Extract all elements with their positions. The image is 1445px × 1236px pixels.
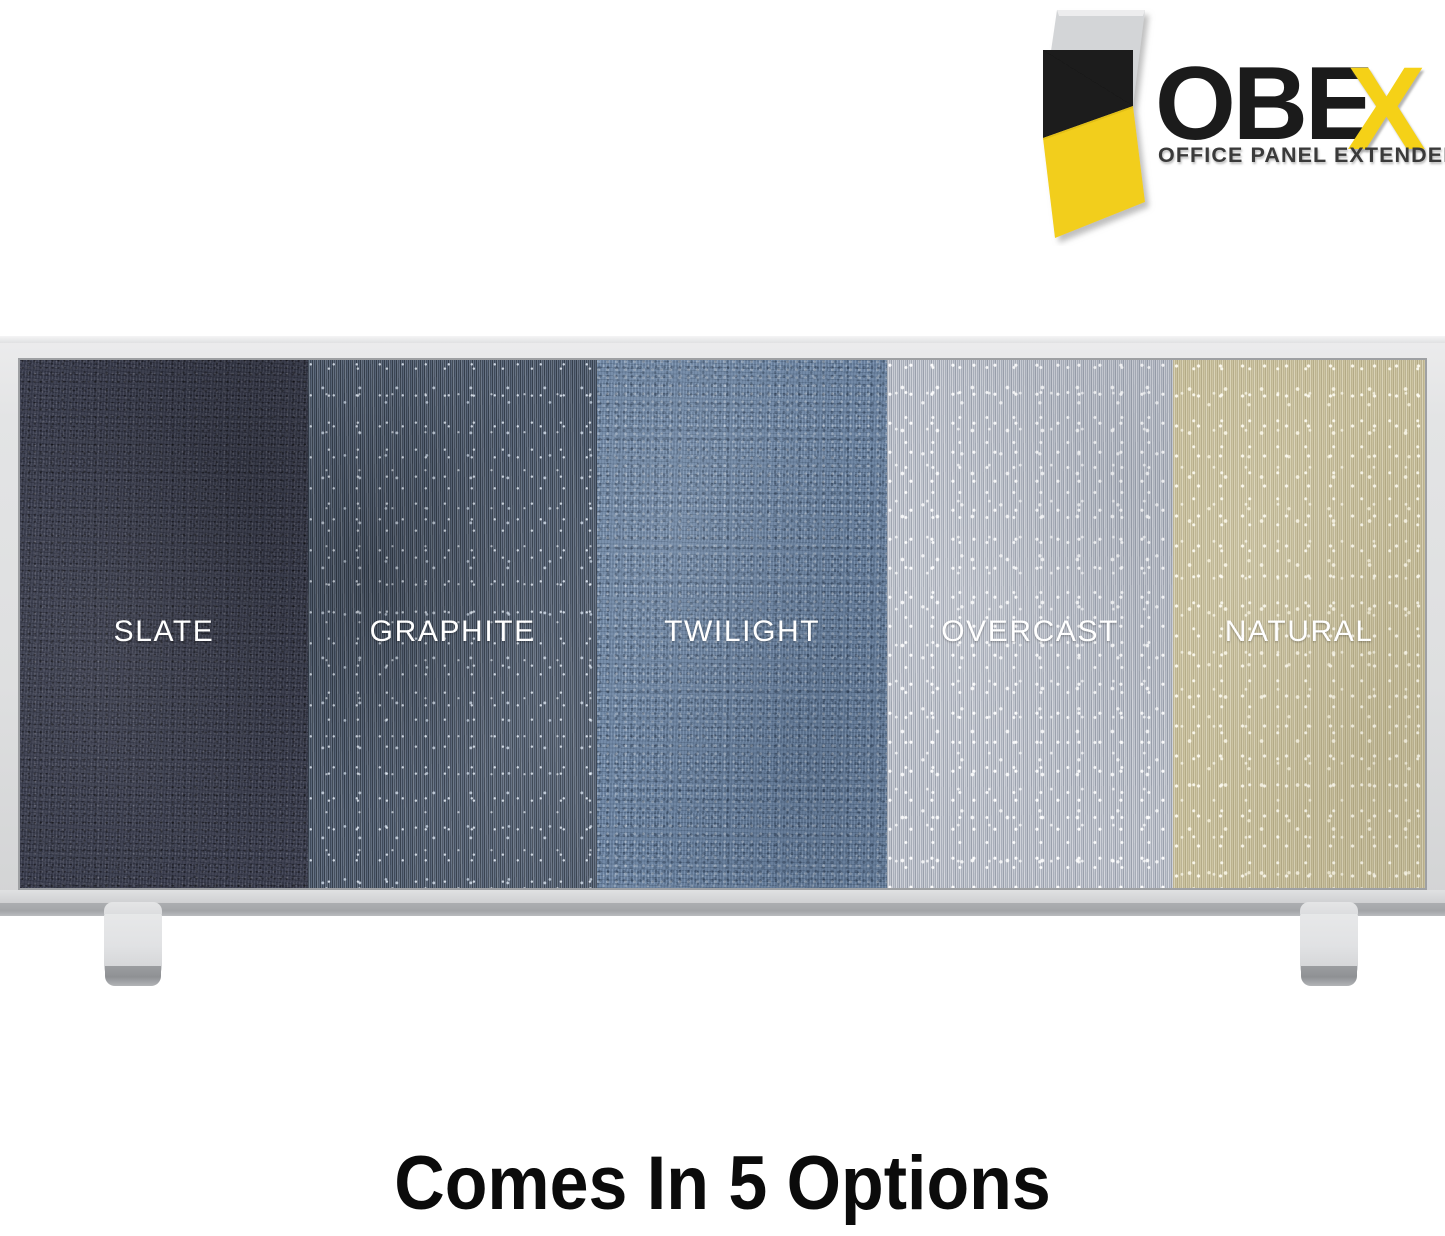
swatch-slate[interactable]: SLATE	[20, 360, 308, 888]
swatch-label-slate: SLATE	[20, 615, 308, 649]
wordmark-obe: OBE	[1155, 52, 1371, 156]
swatch-overcast[interactable]: OVERCAST	[887, 360, 1174, 888]
obex-wordmark: OBE X OFFICE PANEL EXTENDERS	[1155, 52, 1445, 182]
obex-logo: OBE X OFFICE PANEL EXTENDERS	[1033, 4, 1433, 244]
page-caption: Comes In 5 Options	[58, 1138, 1387, 1230]
swatch-label-twilight: TWILIGHT	[597, 615, 886, 649]
swatch-natural[interactable]: NATURAL	[1173, 360, 1424, 888]
panel-bottom-rail-highlight	[0, 890, 1445, 903]
swatch-label-graphite: GRAPHITE	[308, 615, 597, 649]
panel-foot-right	[1300, 906, 1358, 978]
logo-tagline: OFFICE PANEL EXTENDERS	[1158, 144, 1445, 166]
swatch-graphite[interactable]: GRAPHITE	[308, 360, 597, 888]
panel-bottom-rail	[0, 903, 1445, 916]
panel-extender-product-image: SLATE GRAPHITE TWILIGHT OVERCAST NATURAL	[0, 336, 1445, 916]
swatch-label-overcast: OVERCAST	[887, 615, 1174, 649]
swatch-twilight[interactable]: TWILIGHT	[597, 360, 886, 888]
panel-foot-right-collar	[1300, 902, 1358, 914]
swatch-label-natural: NATURAL	[1173, 615, 1424, 649]
fabric-swatch-strip: SLATE GRAPHITE TWILIGHT OVERCAST NATURAL	[20, 360, 1425, 888]
panel-frame-top-highlight	[0, 336, 1445, 343]
panel-foot-left	[104, 906, 162, 978]
obex-logo-mark-icon	[1033, 6, 1163, 246]
panel-foot-left-collar	[104, 902, 162, 914]
